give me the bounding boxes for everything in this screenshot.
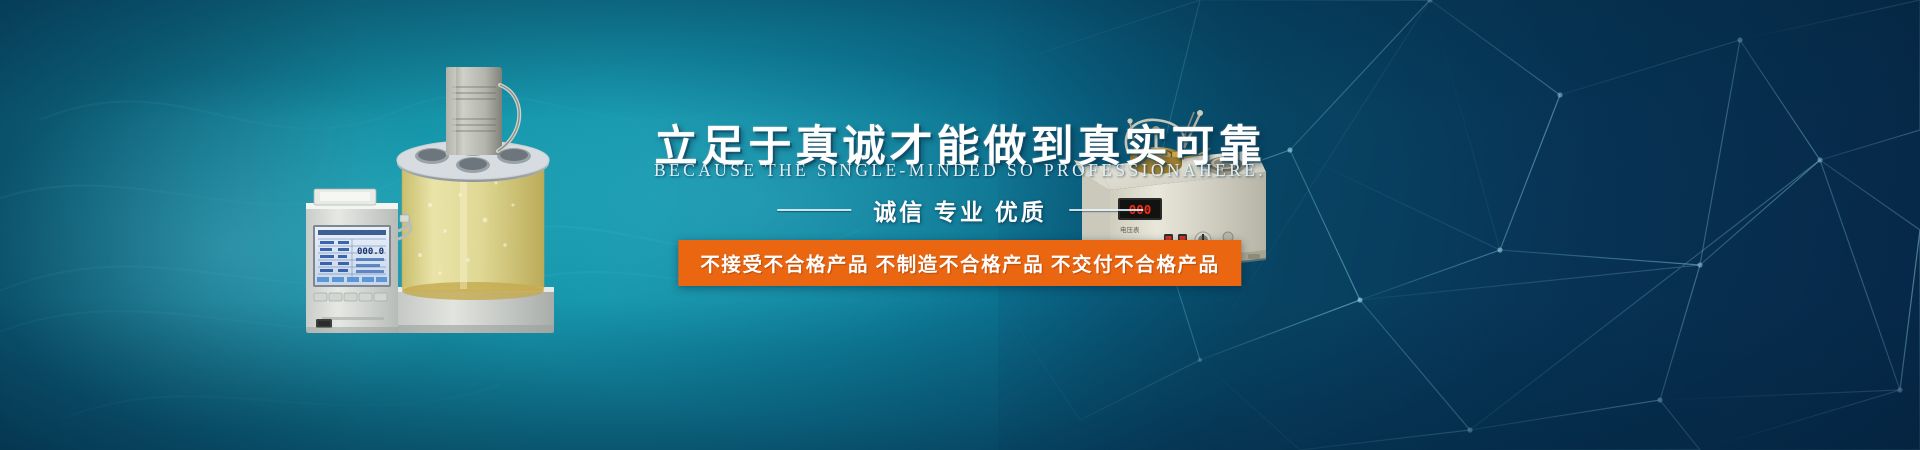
divider-line-left (777, 209, 851, 211)
banner-text-block: 立足于真诚才能做到真实可靠 BECAUSE THE SINGLE-MINDED … (0, 0, 1920, 450)
banner-keywords: 诚信 专业 优质 (873, 193, 1047, 227)
promo-banner: 000.0 (0, 0, 1920, 450)
background-vignette (0, 0, 1920, 450)
svg-text:升温: 升温 (1161, 252, 1173, 260)
flash-point-tester-image: 000 电压表 升温 点火 搅拌 定温 (1060, 108, 1270, 303)
kinematic-viscometer-image: 000.0 (300, 55, 560, 345)
background-line-pattern (0, 0, 1920, 450)
background-top-shade (0, 0, 1920, 120)
background-bottom-shade (0, 300, 1920, 450)
svg-text:定温: 定温 (1220, 246, 1232, 254)
svg-text:搅拌: 搅拌 (1197, 248, 1209, 256)
svg-text:000.0: 000.0 (357, 247, 384, 257)
svg-text:电压表: 电压表 (1120, 225, 1140, 234)
svg-text:000: 000 (1129, 202, 1152, 217)
svg-text:点火: 点火 (1177, 250, 1189, 258)
